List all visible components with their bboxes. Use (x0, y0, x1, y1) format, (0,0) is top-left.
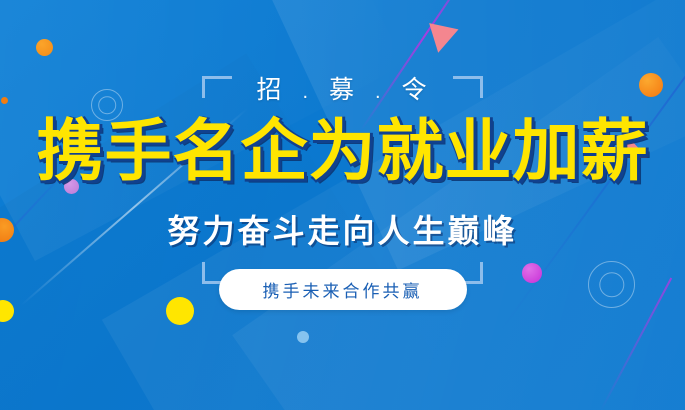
background-gradient (0, 0, 685, 410)
eyebrow-separator-2: . (375, 81, 383, 103)
orange-dot-top-left-icon (36, 39, 53, 56)
eyebrow-char-3: 令 (401, 76, 428, 104)
eyebrow-char-1: 招 (257, 76, 284, 104)
cta-button[interactable]: 携手未来合作共赢 (219, 269, 467, 310)
eyebrow-text: 招 . 募 . 令 (0, 70, 685, 106)
eyebrow-separator-1: . (302, 81, 310, 103)
lightblue-dot-bottom-icon (297, 331, 309, 343)
cta-container: 携手未来合作共赢 (0, 269, 685, 310)
headline-text: 携手名企为就业加薪 (0, 118, 685, 185)
subtitle-text: 努力奋斗走向人生巅峰 (0, 206, 685, 252)
recruitment-banner: 招 . 募 . 令 携手名企为就业加薪 努力奋斗走向人生巅峰 携手未来合作共赢 (0, 0, 685, 410)
eyebrow-char-2: 募 (329, 76, 356, 104)
